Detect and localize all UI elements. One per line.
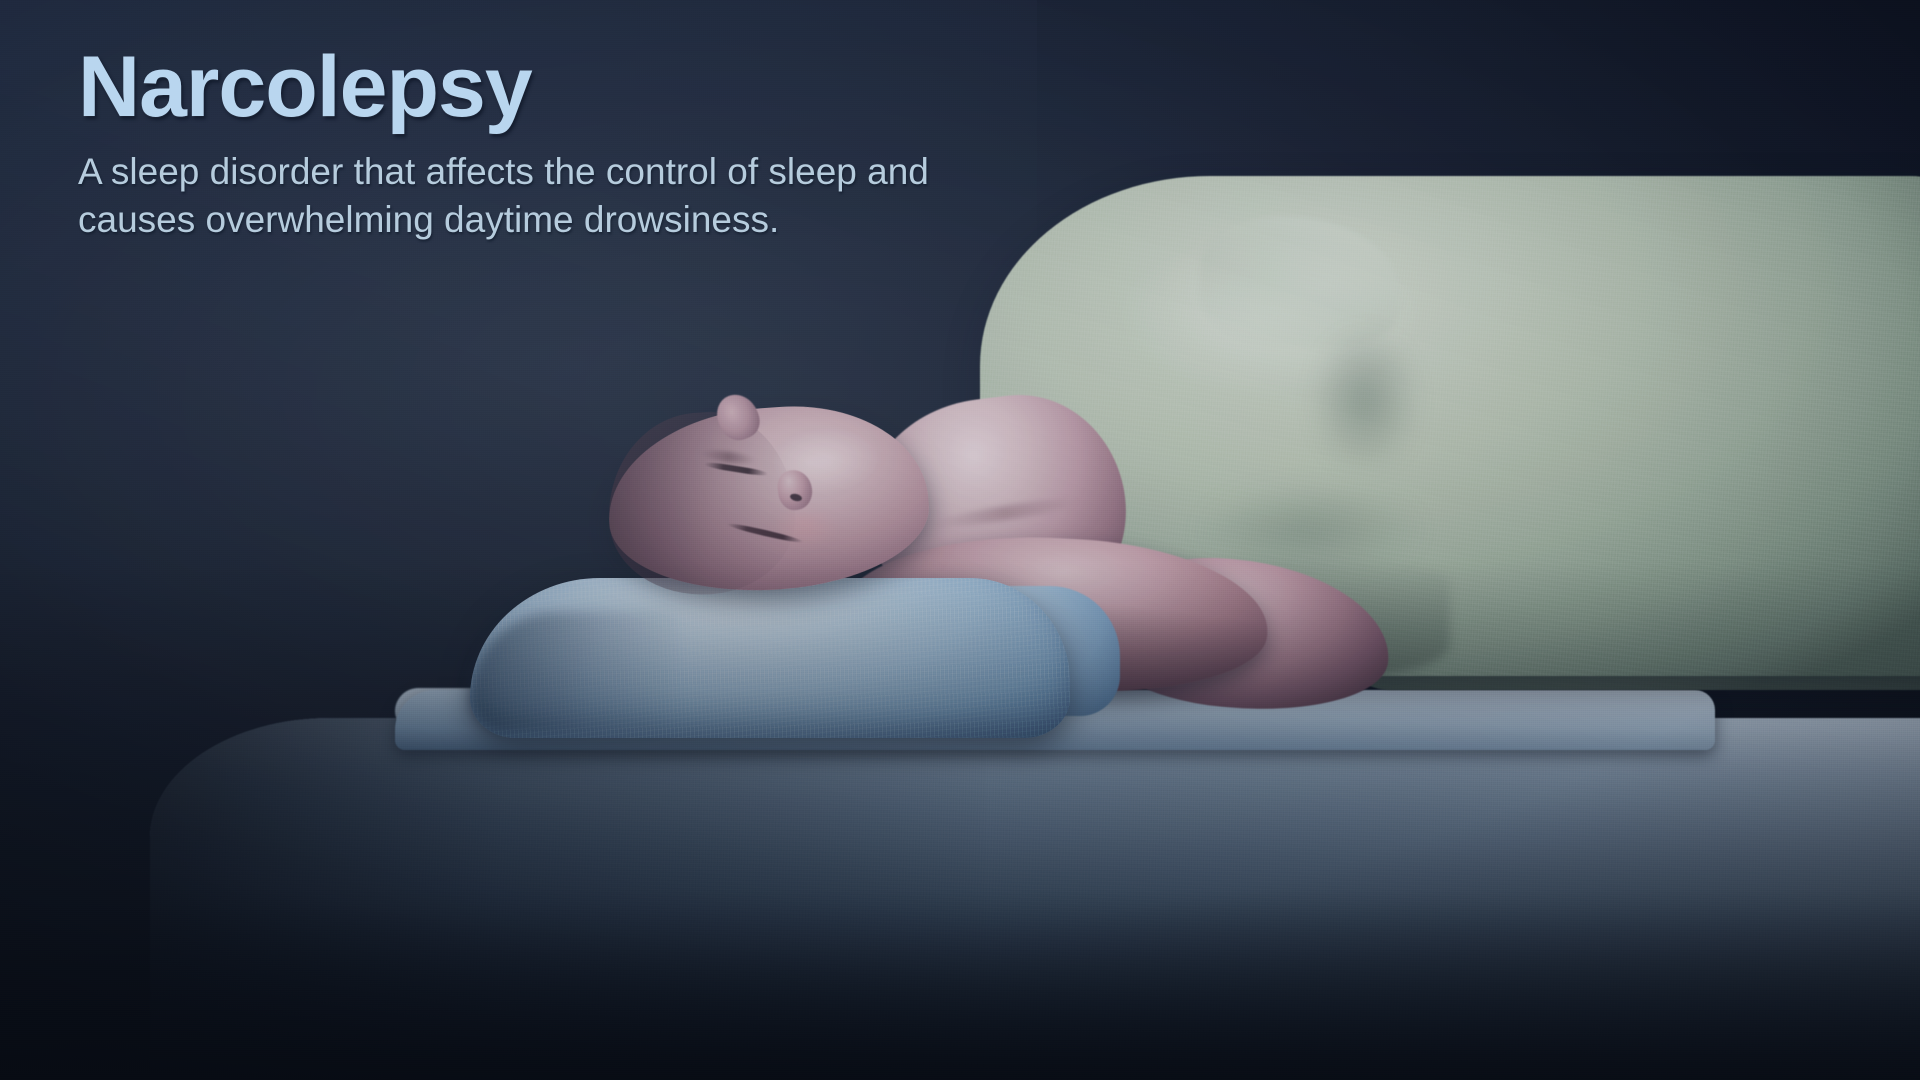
page-title: Narcolepsy (78, 44, 1028, 130)
subtitle-line-2: causes overwhelming daytime drowsiness. (78, 199, 779, 240)
caption-block: Narcolepsy A sleep disorder that affects… (78, 44, 1028, 244)
subtitle-line-1: A sleep disorder that affects the contro… (78, 151, 929, 192)
page-subtitle: A sleep disorder that affects the contro… (78, 148, 938, 244)
narcolepsy-infographic: Narcolepsy A sleep disorder that affects… (0, 0, 1920, 1080)
